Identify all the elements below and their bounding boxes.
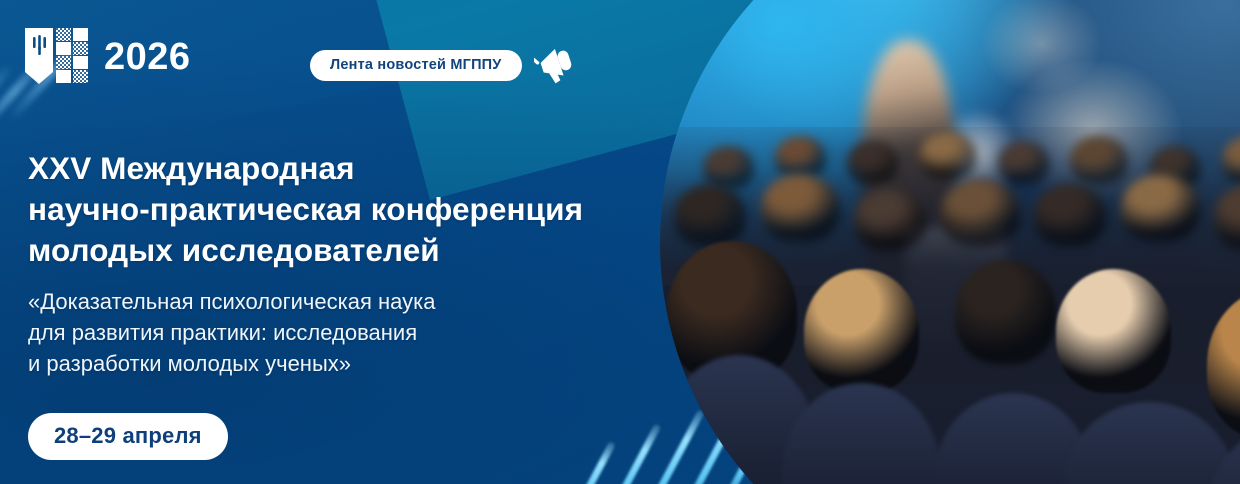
- photo-audience-head: [1121, 174, 1200, 241]
- photo-audience-head: [1056, 269, 1171, 393]
- photo-audience-head: [1214, 184, 1240, 251]
- logo-year: 2026: [104, 38, 191, 76]
- photo-audience-head: [919, 132, 977, 180]
- photo-audience-head: [941, 179, 1020, 246]
- photo-audience: [660, 127, 1240, 484]
- photo-audience-head: [1070, 136, 1128, 184]
- photo-audience-head: [1034, 184, 1106, 246]
- conference-audience-photo: [660, 0, 1240, 484]
- photo-audience-head: [1207, 288, 1240, 440]
- conference-banner: 2026 Лента новостей МГППУ XXV Международ…: [0, 0, 1240, 484]
- photo-audience-head: [998, 141, 1048, 184]
- photo-audience-head: [847, 141, 897, 184]
- page-subtitle: «Доказательная психологическая наука для…: [28, 286, 668, 380]
- photo-audience-head: [674, 184, 746, 246]
- photo-audience-head: [703, 146, 753, 189]
- photo-audience-head: [854, 189, 926, 251]
- photo-audience-head: [1222, 136, 1240, 184]
- news-feed-chip[interactable]: Лента новостей МГППУ: [310, 44, 580, 86]
- photo-inner: [660, 0, 1240, 484]
- photo-audience-head: [761, 174, 840, 241]
- photo-audience-head: [775, 136, 825, 179]
- news-feed-label[interactable]: Лента новостей МГППУ: [310, 50, 522, 81]
- date-badge: 28–29 апреля: [28, 413, 228, 460]
- mgppu-shield-logo-icon: [22, 26, 90, 88]
- photo-audience-shoulders: [1063, 402, 1236, 484]
- photo-audience-head: [804, 269, 919, 393]
- page-title: XXV Международная научно-практическая ко…: [28, 148, 728, 271]
- photo-audience-head: [955, 260, 1056, 365]
- megaphone-icon: [534, 44, 580, 86]
- photo-audience-shoulders: [782, 383, 940, 484]
- brand-lockup: 2026: [22, 26, 191, 88]
